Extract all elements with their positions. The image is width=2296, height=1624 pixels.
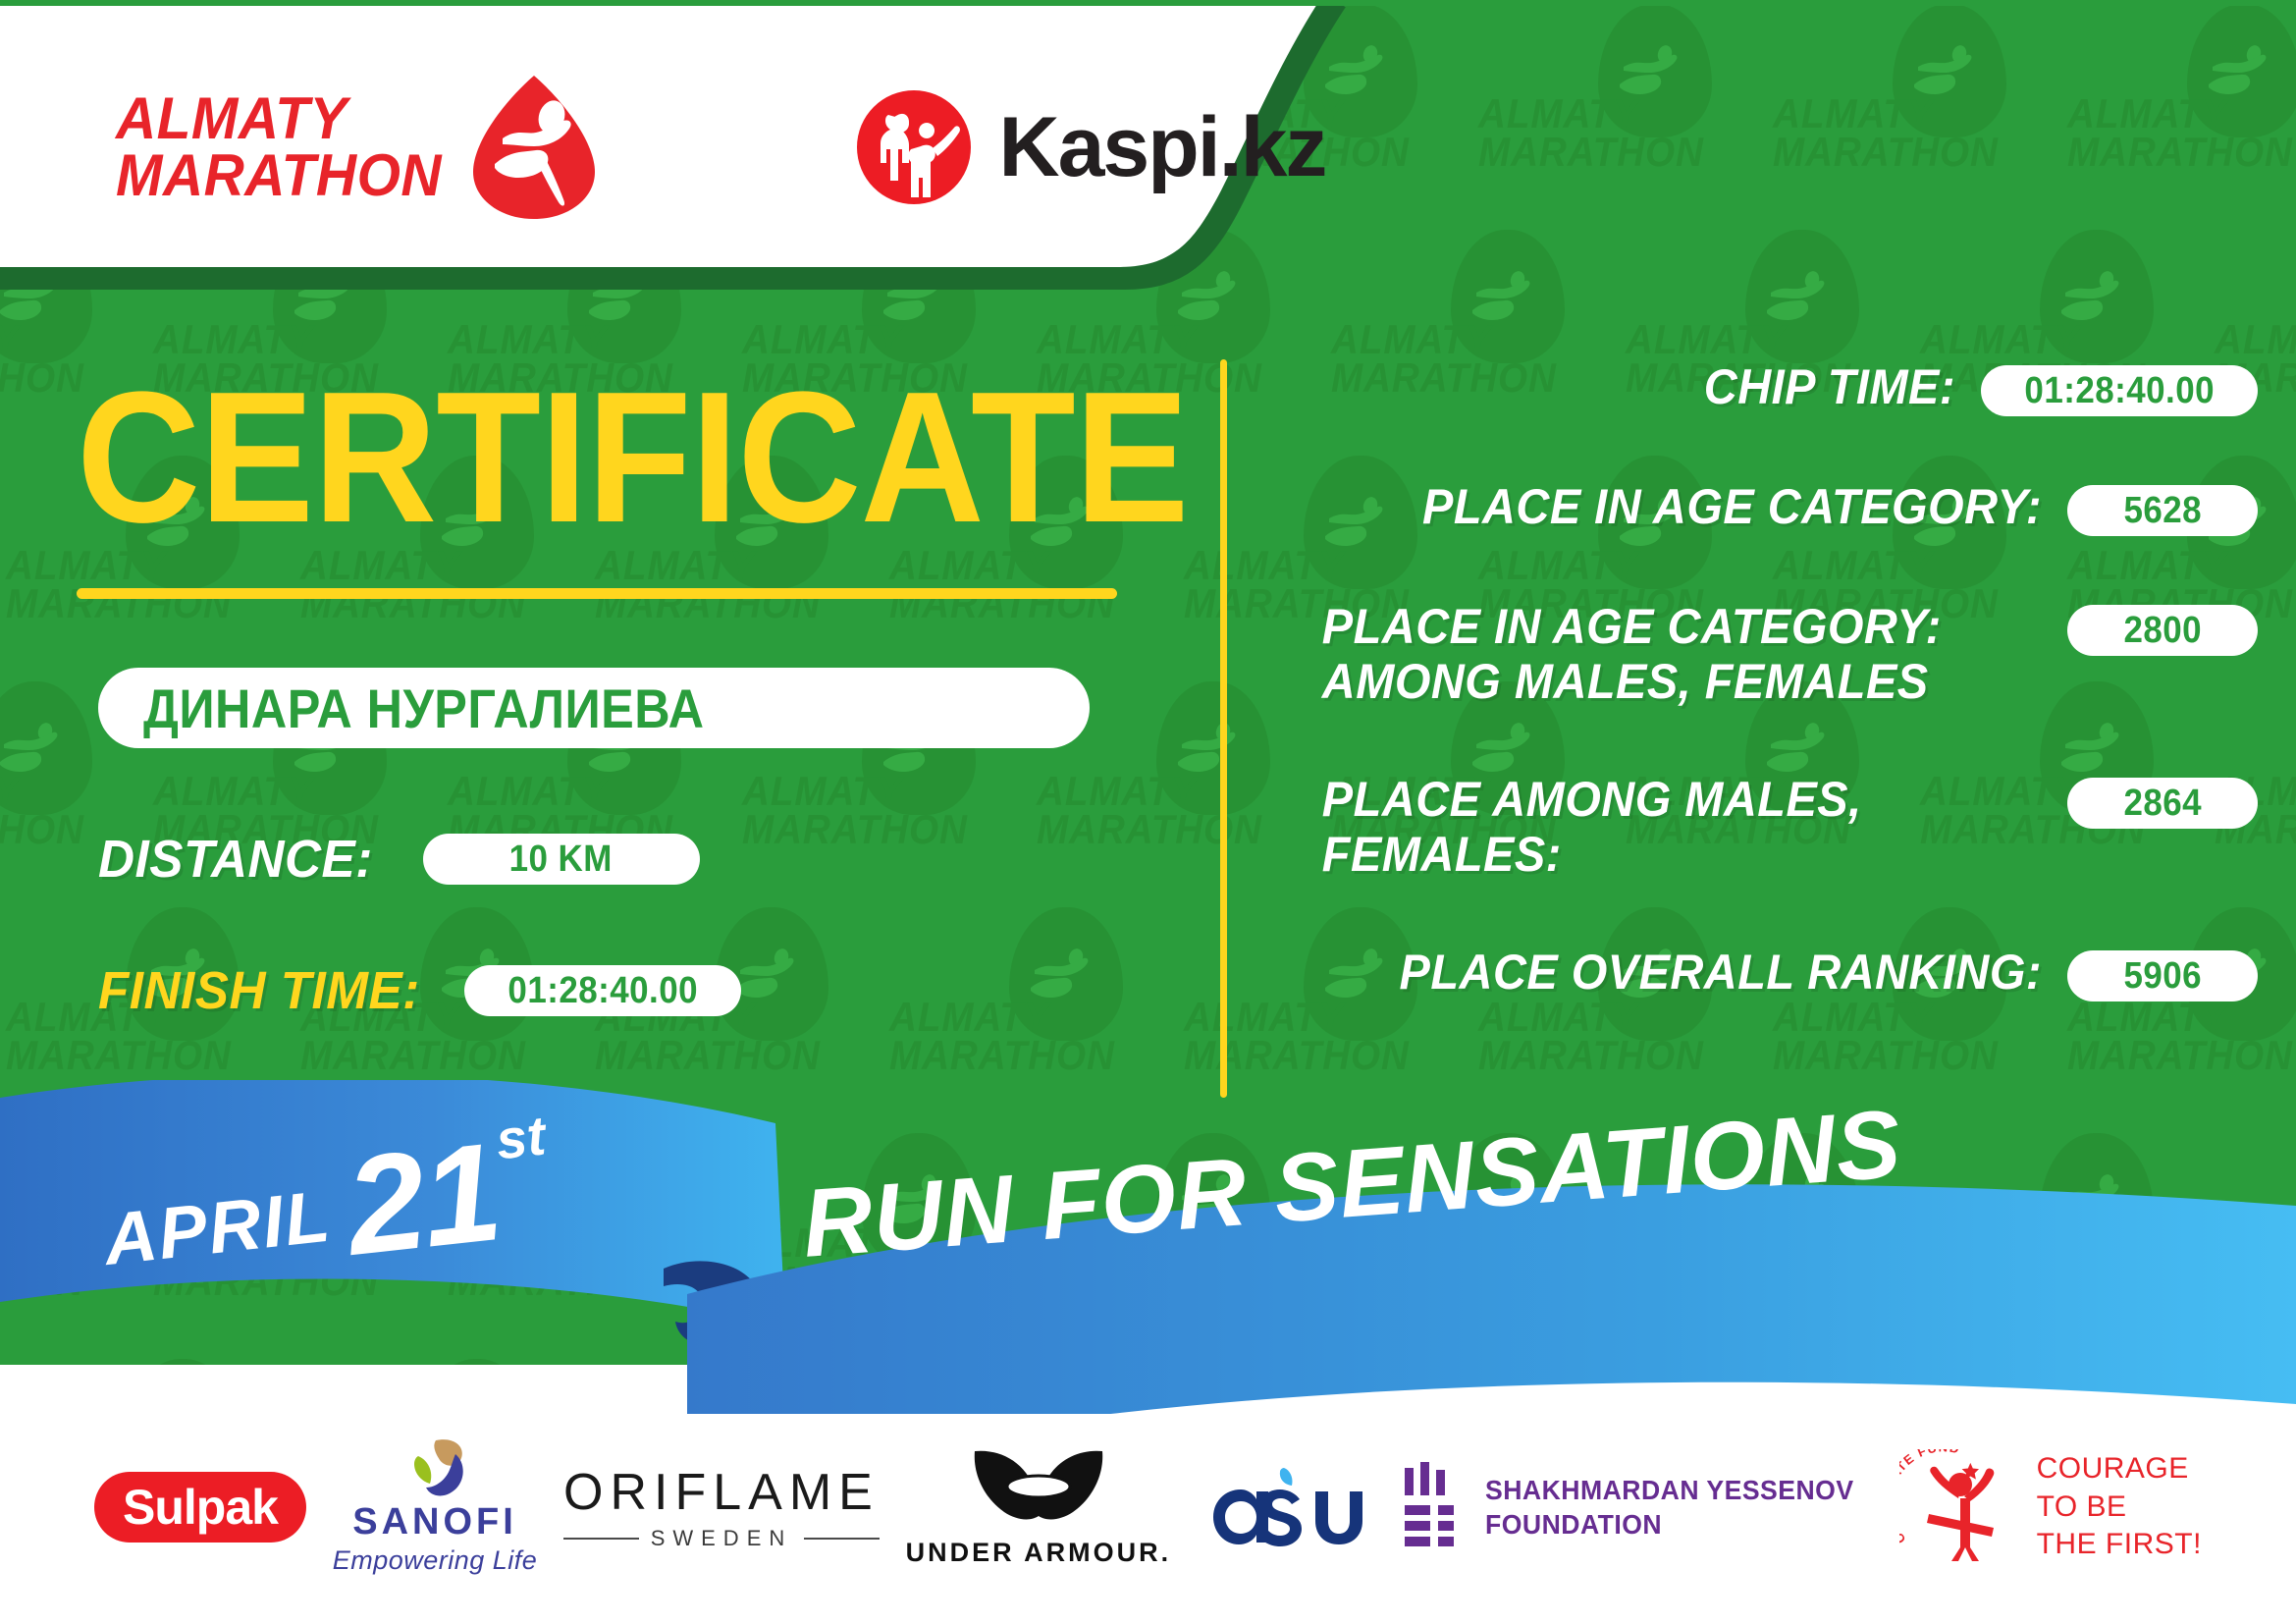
yessenov-line1: SHAKHMARDAN YESSENOV	[1485, 1473, 1854, 1507]
event-day-suffix: st	[493, 1103, 549, 1171]
kaspi-people-icon	[854, 87, 974, 207]
kaspi-wordmark: Kaspi.kz	[999, 99, 1326, 196]
courage-line1: COURAGE	[2037, 1450, 2202, 1488]
sponsor-yessenov-foundation: SHAKHMARDAN YESSENOV FOUNDATION	[1401, 1462, 1873, 1552]
certificate-canvas: ALMATYMARATHONALMATYMARATHONALMATYMARATH…	[0, 0, 2296, 1624]
place-age-category-value: 5628	[2123, 490, 2202, 532]
header-bar: ALMATY MARATHON	[0, 0, 1374, 295]
sanofi-tagline: Empowering Life	[333, 1545, 538, 1576]
distance-label: DISTANCE:	[98, 829, 373, 890]
courage-line2: TO BE	[2037, 1489, 2202, 1526]
sanofi-wordmark: SANOFI	[352, 1501, 517, 1543]
left-panel: CERTIFICATE ДИНАРА НУРГАЛИЕВА DISTANCE: …	[0, 324, 1207, 1021]
marathon-line: MARATHON	[116, 147, 442, 204]
stat-row-place-age-category: PLACE IN AGE CATEGORY: 5628	[1276, 479, 2258, 536]
place-among-males-females-value: 2864	[2123, 783, 2202, 825]
top-green-rule	[0, 0, 2296, 6]
courage-fund-wordmark: COURAGE TO BE THE FIRST!	[2037, 1450, 2202, 1563]
chip-time-value: 01:28:40.00	[2024, 370, 2215, 412]
stat-row-place-among-males-females: PLACE AMONG MALES, FEMALES: 2864	[1276, 772, 2258, 882]
page-title: CERTIFICATE	[77, 368, 1117, 547]
event-day: 21	[342, 1135, 505, 1265]
place-age-category-among-label: PLACE IN AGE CATEGORY: AMONG MALES, FEMA…	[1322, 599, 2042, 709]
results-panel: CHIP TIME: 01:28:40.00 PLACE IN AGE CATE…	[1276, 359, 2258, 1064]
almaty-marathon-wordmark: ALMATY MARATHON	[116, 90, 442, 203]
svg-text:CORPORATE FUND: CORPORATE FUND	[1899, 1449, 1961, 1546]
yessenov-icon	[1401, 1462, 1464, 1552]
courage-line3: THE FIRST!	[2037, 1526, 2202, 1563]
sponsor-under-armour: UNDER ARMOUR.	[906, 1447, 1172, 1568]
stat-row-place-overall: PLACE OVERALL RANKING: 5906	[1276, 945, 2258, 1001]
finish-time-value: 01:28:40.00	[507, 970, 698, 1012]
stat-row-place-age-category-among: PLACE IN AGE CATEGORY: AMONG MALES, FEMA…	[1276, 599, 2258, 709]
under-armour-icon	[965, 1447, 1112, 1532]
place-age-category-among-value-pill: 2800	[2067, 605, 2258, 656]
distance-value: 10 KM	[509, 839, 613, 881]
courage-fund-icon: CORPORATE FUND	[1899, 1449, 2023, 1565]
vertical-divider	[1220, 359, 1227, 1098]
place-overall-value-pill: 5906	[2067, 950, 2258, 1001]
oriflame-wordmark: ORIFLAME	[563, 1463, 880, 1522]
sponsor-asu	[1198, 1460, 1374, 1554]
oriflame-sweden: SWEDEN	[651, 1526, 793, 1551]
almaty-marathon-logo: ALMATY MARATHON	[116, 74, 599, 221]
place-age-category-label: PLACE IN AGE CATEGORY:	[1322, 479, 2042, 534]
place-age-category-value-pill: 5628	[2067, 485, 2258, 536]
sponsor-courage-fund: CORPORATE FUND COURAGE TO BE THE FIRST!	[1899, 1449, 2202, 1565]
sponsor-sanofi: SANOFI Empowering Life	[333, 1438, 538, 1576]
title-underline	[77, 588, 1117, 599]
sulpak-wordmark: Sulpak	[123, 1479, 278, 1536]
sponsor-sulpak: Sulpak	[94, 1472, 306, 1543]
participant-name-value: ДИНАРА НУРГАЛИЕВА	[143, 677, 704, 740]
finish-time-row: FINISH TIME: 01:28:40.00	[98, 960, 1207, 1021]
stat-row-chip-time: CHIP TIME: 01:28:40.00	[1276, 359, 2258, 416]
finish-time-value-pill: 01:28:40.00	[464, 965, 741, 1016]
oriflame-rule-right	[804, 1538, 880, 1540]
sponsor-oriflame: ORIFLAME SWEDEN	[563, 1463, 880, 1551]
place-among-males-females-value-pill: 2864	[2067, 778, 2258, 829]
under-armour-wordmark: UNDER ARMOUR.	[906, 1538, 1172, 1568]
oriflame-sub: SWEDEN	[563, 1526, 880, 1551]
runner-drop-icon	[469, 74, 599, 221]
oriflame-rule-left	[563, 1538, 639, 1540]
kaspi-logo: Kaspi.kz	[854, 87, 1326, 207]
place-overall-label: PLACE OVERALL RANKING:	[1322, 945, 2042, 1000]
event-month: APRIL	[100, 1173, 336, 1281]
distance-value-pill: 10 KM	[423, 834, 700, 885]
place-age-category-among-value: 2800	[2123, 610, 2202, 652]
yessenov-wordmark: SHAKHMARDAN YESSENOV FOUNDATION	[1485, 1473, 1854, 1542]
place-overall-value: 5906	[2123, 955, 2202, 998]
place-among-males-females-label: PLACE AMONG MALES, FEMALES:	[1322, 772, 2042, 882]
yessenov-line2: FOUNDATION	[1485, 1507, 1854, 1542]
sanofi-icon	[397, 1438, 473, 1499]
almaty-line: ALMATY	[116, 90, 442, 147]
distance-row: DISTANCE: 10 KM	[98, 829, 1207, 890]
finish-time-label: FINISH TIME:	[98, 960, 420, 1021]
participant-name-field: ДИНАРА НУРГАЛИЕВА	[98, 668, 1090, 748]
sponsor-strip: Sulpak SANOFI Empowering Life ORIFLAME S…	[0, 1414, 2296, 1600]
asu-icon	[1198, 1460, 1374, 1554]
chip-time-value-pill: 01:28:40.00	[1981, 365, 2258, 416]
chip-time-label: CHIP TIME:	[1317, 359, 1955, 414]
